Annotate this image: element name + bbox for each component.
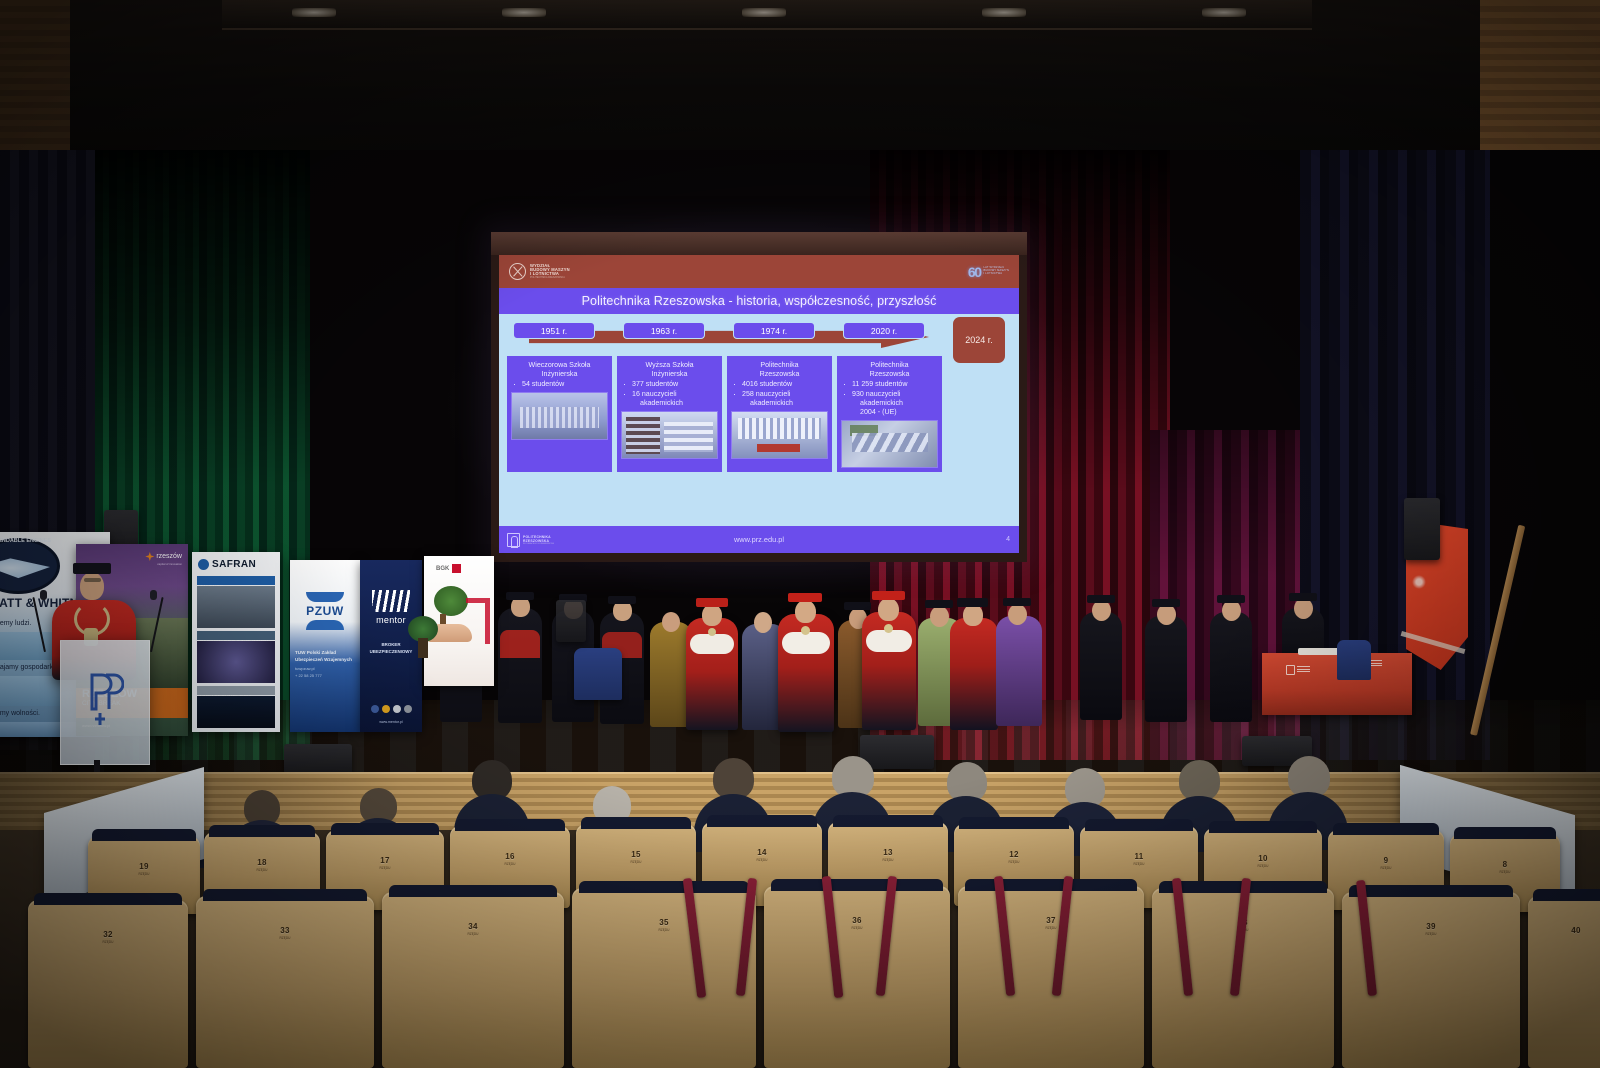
- person-head: [754, 612, 772, 633]
- pzuw-line-4: + 22 58 25 777: [295, 673, 322, 678]
- safran-photo-2: [197, 641, 275, 683]
- chair-pad: [389, 885, 556, 897]
- pzuw-line-1: TUW Polski Zakład: [295, 650, 336, 655]
- person-head: [702, 604, 722, 626]
- bgk-mark-icon: [452, 564, 461, 573]
- seat-sub-label: RZĘDU: [572, 928, 756, 932]
- seat-number: 19: [88, 862, 200, 871]
- person-head: [1092, 600, 1111, 621]
- safran-section-2-band: PASSION FOR INNOVATION: [197, 631, 275, 640]
- safran-photo-1: [197, 586, 275, 628]
- empty-chair: [1337, 640, 1371, 680]
- col4-name-line2: Rzeszowska: [841, 370, 938, 379]
- person-head: [662, 612, 680, 632]
- col4-note: 2004 - (UE): [841, 408, 938, 417]
- chair-seat-35[interactable]: 35 RZĘDU: [572, 888, 756, 1068]
- mentor-mark-icon: [372, 590, 410, 612]
- safran-photo-3: [197, 696, 275, 728]
- ermine-cape: [866, 630, 912, 652]
- col1-name-line2: Inżynierska: [511, 370, 608, 379]
- col3-name-line2: Rzeszowska: [731, 370, 828, 379]
- chair-pad: [581, 817, 691, 829]
- col4-campus-photo: [841, 420, 938, 468]
- chair-pad: [707, 815, 817, 827]
- person-head: [963, 604, 983, 626]
- pa-speaker-stack: [1404, 498, 1440, 560]
- seat-number: 11: [1080, 852, 1198, 861]
- timeline-year-4: 2020 r.: [843, 322, 925, 339]
- seat-number: 8: [1450, 860, 1560, 869]
- person-head: [1294, 598, 1313, 619]
- ceremony-photo: WYDZIAŁ BUDOWY MASZYN I LOTNICTWA POLITE…: [0, 0, 1600, 1068]
- timeline-year-2: 1963 r.: [623, 322, 705, 339]
- academic-cap-icon: [788, 593, 822, 602]
- seat-sub-label: RZĘDU: [1204, 864, 1322, 868]
- rzeszow-brand: rzeszów: [156, 553, 182, 560]
- pw-line-2: ...ajamy gospodarki.: [0, 664, 57, 671]
- chair-pad: [771, 879, 942, 891]
- banner-mentor: mentor BROKER UBEZPIECZENIOWY www.mentor…: [360, 560, 422, 732]
- presentation-slide: WYDZIAŁ BUDOWY MASZYN I LOTNICTWA POLITE…: [499, 255, 1019, 553]
- screen-top-bar: [491, 232, 1027, 255]
- pratt-whitney-badge: DEPENDABLE ENGINES: [0, 538, 54, 544]
- chair-seat-36[interactable]: 36 RZĘDU: [764, 886, 950, 1068]
- ceiling-soffit: [222, 0, 1312, 30]
- prz-monogram-icon: [507, 533, 520, 547]
- instagram-icon: [382, 705, 390, 713]
- academic-cap-icon: [1003, 598, 1031, 606]
- academic-cap-icon: [1087, 595, 1115, 603]
- seat-number: 12: [954, 850, 1074, 859]
- seat-sub-label: RZĘDU: [702, 858, 822, 862]
- col2-name-line2: Inżynierska: [621, 370, 718, 379]
- slide-title: Politechnika Rzeszowska - historia, wspó…: [499, 288, 1019, 314]
- timeline-arrow-row: 1951 r. 1963 r. 1974 r. 2020 r. 2024 r.: [507, 322, 1011, 352]
- safran-mark-icon: [198, 559, 209, 570]
- ceiling-light: [502, 8, 546, 17]
- pzuw-arc-icon: [306, 592, 344, 602]
- chain-of-office: [801, 626, 810, 635]
- seat-number: 14: [702, 848, 822, 857]
- academic-cap-icon: [696, 598, 728, 607]
- col1-name-line1: Wieczorowa Szkoła: [511, 361, 608, 370]
- timeline-columns: Wieczorowa Szkoła Inżynierska 54 student…: [507, 356, 1011, 472]
- ermine-cape: [690, 634, 734, 654]
- banner-safran: SAFRAN TALENTS PASSION FOR INNOVATION HI…: [192, 552, 280, 732]
- person-head: [1222, 600, 1241, 621]
- table-emblem: [1286, 665, 1312, 676]
- person-head: [878, 598, 899, 621]
- chair-seat-40[interactable]: 40: [1528, 896, 1600, 1068]
- chair-pad: [1454, 827, 1555, 839]
- col3-building-photo: [731, 411, 828, 459]
- safran-brand: SAFRAN: [212, 559, 256, 570]
- chair-pad: [1349, 885, 1513, 897]
- seat-number: 10: [1204, 854, 1322, 863]
- mentor-url: www.mentor.pl: [360, 720, 422, 724]
- seat-sub-label: RZĘDU: [764, 926, 950, 930]
- person-head: [795, 600, 816, 623]
- seat-sub-label: RZĘDU: [196, 936, 374, 940]
- pzuw-brand: PZUW: [290, 604, 360, 618]
- seated-person-black-robe: [1080, 612, 1122, 720]
- seated-person-red-robe: [950, 618, 998, 730]
- academic-cap-icon: [925, 600, 953, 608]
- col4-bullet-1: 11 259 studentów: [841, 380, 938, 389]
- university-logo: POLITECHNIKA RZESZOWSKA IM. IGNACEGO ŁUK…: [507, 533, 554, 547]
- chair-seat-33[interactable]: 33 RZĘDU: [196, 896, 374, 1068]
- ceiling-light: [982, 8, 1026, 17]
- projection-screen: WYDZIAŁ BUDOWY MASZYN I LOTNICTWA POLITE…: [491, 232, 1027, 562]
- seated-person-black-robe: [498, 608, 542, 723]
- pa-speaker-stack: [556, 600, 586, 642]
- timeline-column-4: Politechnika Rzeszowska 11 259 studentów…: [837, 356, 942, 472]
- timeline-column-2: Wyższa Szkoła Inżynierska 377 studentów …: [617, 356, 722, 472]
- eyeglasses-icon: [84, 578, 101, 582]
- seat-sub-label: RZĘDU: [382, 932, 564, 936]
- faculty-logo-subline: POLITECHNIKA RZESZOWSKA: [530, 277, 570, 279]
- seat-number: 34: [382, 922, 564, 931]
- pzuw-arc-icon: [306, 620, 344, 630]
- timeline-column-1: Wieczorowa Szkoła Inżynierska 54 student…: [507, 356, 612, 472]
- pzuw-line-3: tuwpzuw.pl: [295, 666, 315, 671]
- seated-person-purple-robe: [996, 616, 1042, 726]
- col2-name-line1: Wyższa Szkoła: [621, 361, 718, 370]
- seat-sub-label: RZĘDU: [28, 940, 188, 944]
- speaker-head: [80, 572, 104, 600]
- seat-sub-label: RZĘDU: [576, 860, 696, 864]
- youtube-icon: [404, 705, 412, 713]
- mentor-social-icons: [371, 705, 412, 713]
- chair-pad: [965, 879, 1136, 891]
- slide-footer-url: www.prz.edu.pl: [734, 535, 784, 544]
- rzeszow-tagline: capital of innovation: [157, 562, 182, 566]
- academic-cap-icon: [608, 596, 636, 604]
- timeline-year-1: 1951 r.: [513, 322, 595, 339]
- seat-number: 35: [572, 918, 756, 927]
- academic-cap-icon: [1289, 593, 1317, 601]
- rzeszow-mark-icon: [145, 552, 154, 561]
- academic-cap-icon: [957, 598, 988, 607]
- pw-line-3: ...my wolności.: [0, 710, 40, 717]
- flag-emblem: [1412, 575, 1426, 589]
- empty-chair: [574, 648, 622, 700]
- timeline-year-3: 1974 r.: [733, 322, 815, 339]
- academic-cap-icon: [73, 563, 111, 574]
- chair-pad: [1085, 819, 1194, 831]
- col1-building-photo: [511, 392, 608, 440]
- col2-bullet-2: 16 nauczycieli: [621, 390, 718, 399]
- col3-bullet-2: 258 nauczycieli: [731, 390, 828, 399]
- seat-sub-label: RZĘDU: [450, 862, 570, 866]
- chair-pad: [92, 829, 195, 841]
- chair-pad: [959, 817, 1069, 829]
- seat-number: 36: [764, 916, 950, 925]
- bgk-graphic: [466, 598, 490, 644]
- chair-pad: [579, 881, 748, 893]
- seat-sub-label: RZĘDU: [1328, 866, 1444, 870]
- faculty-logo: WYDZIAŁ BUDOWY MASZYN I LOTNICTWA POLITE…: [509, 263, 570, 280]
- banner-pzuw: PZUW TUW Polski Zakład Ubezpieczeń Wzaje…: [290, 560, 360, 732]
- microphone-icon: [40, 590, 47, 600]
- col2-building-photo: [621, 411, 718, 459]
- academic-cap-icon: [1152, 599, 1180, 607]
- person-head: [1179, 760, 1220, 801]
- footer-logo-line2: RZESZOWSKA: [523, 539, 554, 543]
- chair-pad: [209, 825, 316, 837]
- seat-sub-label: RZĘDU: [954, 860, 1074, 864]
- slide-header: WYDZIAŁ BUDOWY MASZYN I LOTNICTWA POLITE…: [499, 255, 1019, 288]
- ceiling-light: [742, 8, 786, 17]
- ceiling-light: [1202, 8, 1246, 17]
- seat-sub-label: RZĘDU: [88, 872, 200, 876]
- chain-of-office: [708, 628, 716, 636]
- person-head: [1008, 604, 1027, 625]
- microphone-icon: [150, 590, 157, 600]
- person-head: [930, 606, 949, 627]
- seat-number: 13: [828, 848, 948, 857]
- person-head: [1157, 604, 1176, 625]
- safran-section-1-band: TALENTS: [197, 576, 275, 585]
- footer-logo-line1: POLITECHNIKA: [523, 535, 554, 539]
- academic-cap-icon: [844, 602, 871, 610]
- col3-bullet-1: 4016 studentów: [731, 380, 828, 389]
- anniversary-line3: I LOTNICTWA: [984, 273, 1010, 276]
- person-head: [713, 758, 754, 799]
- chair-pad: [455, 819, 565, 831]
- slide-page-number: 4: [1006, 536, 1010, 543]
- chair-seat-32[interactable]: 32 RZĘDU: [28, 900, 188, 1068]
- col1-bullet-1: 54 studentów: [511, 380, 608, 389]
- timeline-column-3: Politechnika Rzeszowska 4016 studentów 2…: [727, 356, 832, 472]
- seat-number: 37: [958, 916, 1144, 925]
- col4-name-line1: Politechnika: [841, 361, 938, 370]
- chair-pad: [1333, 823, 1440, 835]
- mentor-line-1: BROKER: [360, 642, 422, 647]
- plant-pot: [418, 638, 428, 658]
- linkedin-icon: [393, 705, 401, 713]
- slide-body: 1951 r. 1963 r. 1974 r. 2020 r. 2024 r. …: [499, 314, 1019, 526]
- chain-of-office: [884, 624, 893, 633]
- seat-number: 18: [204, 858, 320, 867]
- anniversary-number: 60: [968, 264, 981, 280]
- col2-bullet-2-cont: akademickich: [621, 399, 718, 408]
- stage-monitor-speaker: [284, 744, 352, 774]
- seat-sub-label: RZĘDU: [1080, 862, 1198, 866]
- bgk-brand: BGK: [436, 566, 449, 572]
- rzeszow-logo: rzeszów: [145, 552, 182, 561]
- bgk-logo: BGK: [436, 564, 461, 573]
- seat-number: 32: [28, 930, 188, 939]
- safran-logo: SAFRAN: [198, 559, 256, 570]
- seat-sub-label: RZĘDU: [204, 868, 320, 872]
- facebook-icon: [371, 705, 379, 713]
- seated-person-black-robe: [1210, 612, 1252, 722]
- red-mozzetta: [500, 630, 540, 658]
- prz-podium-logo-icon: [86, 671, 124, 731]
- anniversary-logo: 60 LAT WYDZIAŁU BUDOWY MASZYN I LOTNICTW…: [968, 264, 1009, 280]
- col4-bullet-2: 930 nauczycieli: [841, 390, 938, 399]
- chair-pad: [331, 823, 440, 835]
- propeller-icon: [509, 263, 526, 280]
- seat-number: 33: [196, 926, 374, 935]
- seat-number: 16: [450, 852, 570, 861]
- prz-monogram-icon: [1286, 665, 1295, 675]
- podium: [60, 640, 150, 765]
- bgk-tree-icon: [434, 586, 468, 616]
- seat-number: 15: [576, 850, 696, 859]
- col3-name-line1: Politechnika: [731, 361, 828, 370]
- chair-pad: [203, 889, 367, 901]
- col3-bullet-2-cont: akademickich: [731, 399, 828, 408]
- ermine-cape: [782, 632, 830, 654]
- slide-footer: POLITECHNIKA RZESZOWSKA IM. IGNACEGO ŁUK…: [499, 526, 1019, 553]
- seated-person-black-robe: [1145, 616, 1187, 722]
- ceiling-light: [292, 8, 336, 17]
- seat-sub-label: RZĘDU: [326, 866, 444, 870]
- seat-sub-label: RZĘDU: [958, 926, 1144, 930]
- footer-logo-line3: IM. IGNACEGO ŁUKASIEWICZA: [523, 543, 554, 545]
- pzuw-line-2: Ubezpieczeń Wzajemnych: [295, 657, 352, 662]
- mentor-line-2: UBEZPIECZENIOWY: [360, 649, 422, 654]
- col2-bullet-1: 377 studentów: [621, 380, 718, 389]
- wall-panel-left: [0, 0, 70, 160]
- chair-seat-37[interactable]: 37 RZĘDU: [958, 886, 1144, 1068]
- chair-seat-34[interactable]: 34 RZĘDU: [382, 892, 564, 1068]
- chair-pad: [1533, 889, 1600, 901]
- academic-cap-icon: [1217, 595, 1245, 603]
- pw-line-1: ...emy ludzi.: [0, 620, 31, 627]
- col4-bullet-2-cont: akademickich: [841, 399, 938, 408]
- seat-sub-label: RZĘDU: [1450, 870, 1560, 874]
- chair-pad: [1209, 821, 1318, 833]
- seat-number: 9: [1328, 856, 1444, 865]
- chair-pad: [34, 893, 181, 905]
- seat-sub-label: RZĘDU: [828, 858, 948, 862]
- seat-number: 17: [326, 856, 444, 865]
- chair-pad: [833, 815, 943, 827]
- seat-number: 40: [1504, 926, 1600, 935]
- academic-cap-icon: [506, 592, 534, 600]
- safran-section-3-band: HIGH TECHNOLOGY: [197, 686, 275, 695]
- academic-cap-icon: [872, 591, 905, 600]
